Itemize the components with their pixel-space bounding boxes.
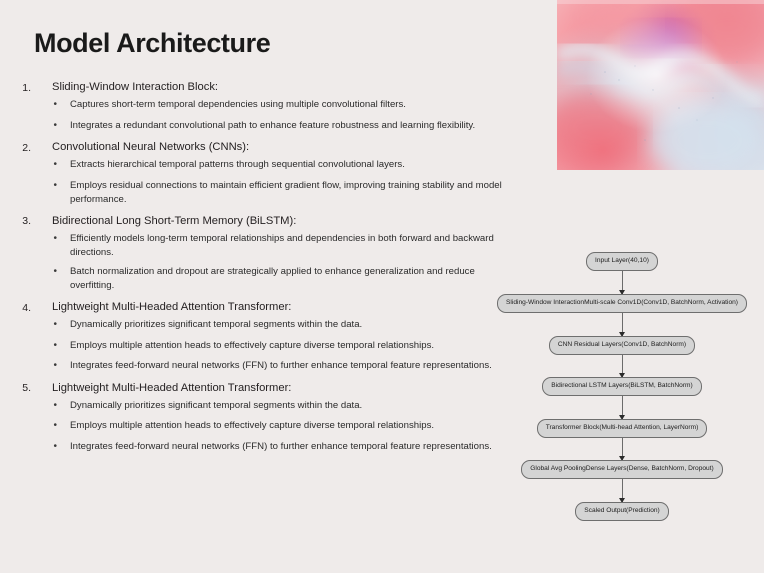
flowchart-node-label: Sliding-Window InteractionMulti-scale Co… [497,294,747,313]
outline-sublist: •Extracts hierarchical temporal patterns… [0,158,545,206]
outline-bullet-text: Integrates feed-forward neural networks … [57,359,492,373]
outline-item: 3.Bidirectional Long Short-Term Memory (… [0,214,545,294]
outline-item-title: Convolutional Neural Networks (CNNs): [31,140,249,155]
bullet-dot-icon: • [0,265,57,280]
flowchart-node[interactable]: Sliding-Window InteractionMulti-scale Co… [480,294,764,313]
outline-item: 1.Sliding-Window Interaction Block:•Capt… [0,80,545,133]
abstract-texture-graphic [557,0,764,170]
outline-item: 4.Lightweight Multi-Headed Attention Tra… [0,300,545,374]
page-title: Model Architecture [34,28,270,59]
outline-item-number: 4. [0,300,31,315]
outline-bullet: •Employs multiple attention heads to eff… [0,419,545,434]
outline-bullet-text: Dynamically prioritizes significant temp… [57,318,362,332]
flowchart-node-label: CNN Residual Layers(Conv1D, BatchNorm) [549,336,695,355]
flowchart-node-label: Input Layer(40,10) [586,252,658,271]
outline-item-title: Bidirectional Long Short-Term Memory (Bi… [31,214,296,229]
outline-item-heading: 5.Lightweight Multi-Headed Attention Tra… [0,381,545,399]
bullet-dot-icon: • [0,119,57,134]
outline-item-heading: 1.Sliding-Window Interaction Block: [0,80,545,98]
flowchart-node[interactable]: Scaled Output(Prediction) [480,502,764,521]
flowchart-node-label: Bidirectional LSTM Layers(BiLSTM, BatchN… [542,377,701,396]
outline-bullet: •Dynamically prioritizes significant tem… [0,399,545,414]
outline-item-heading: 2.Convolutional Neural Networks (CNNs): [0,140,545,158]
bullet-dot-icon: • [0,158,57,173]
outline-bullet: •Integrates feed-forward neural networks… [0,359,545,374]
outline-item-heading: 4.Lightweight Multi-Headed Attention Tra… [0,300,545,318]
flowchart-node[interactable]: Global Avg PoolingDense Layers(Dense, Ba… [480,460,764,479]
outline-bullet-text: Employs multiple attention heads to effe… [57,419,434,433]
outline-bullet-text: Batch normalization and dropout are stra… [57,265,506,293]
flowchart-connector-arrow-icon [622,355,623,377]
outline-sublist: •Efficiently models long-term temporal r… [0,232,545,294]
outline-bullet: •Employs multiple attention heads to eff… [0,339,545,354]
outline-bullet-text: Captures short-term temporal dependencie… [57,98,406,112]
bullet-dot-icon: • [0,440,57,455]
outline-item-number: 5. [0,381,31,396]
flowchart-node[interactable]: Bidirectional LSTM Layers(BiLSTM, BatchN… [480,377,764,396]
outline-item-number: 3. [0,214,31,229]
outline-bullet-text: Employs residual connections to maintain… [57,179,506,207]
bullet-dot-icon: • [0,419,57,434]
outline-item: 2.Convolutional Neural Networks (CNNs):•… [0,140,545,206]
outline-item-title: Lightweight Multi-Headed Attention Trans… [31,300,291,315]
bullet-dot-icon: • [0,179,57,194]
outline-sublist: •Dynamically prioritizes significant tem… [0,399,545,455]
flowchart-node[interactable]: Transformer Block(Multi-head Attention, … [480,419,764,438]
bullet-dot-icon: • [0,359,57,374]
outline-bullet: •Batch normalization and dropout are str… [0,265,545,293]
outline-sublist: •Captures short-term temporal dependenci… [0,98,545,133]
outline-bullet-text: Integrates a redundant convolutional pat… [57,119,475,133]
outline-bullet: •Extracts hierarchical temporal patterns… [0,158,545,173]
flowchart-connector-arrow-icon [622,396,623,419]
outline-bullet-text: Employs multiple attention heads to effe… [57,339,434,353]
flowchart-node[interactable]: Input Layer(40,10) [480,252,764,271]
model-flowchart: Input Layer(40,10)Sliding-Window Interac… [480,246,764,531]
outline-item-title: Sliding-Window Interaction Block: [31,80,218,95]
outline-sublist: •Dynamically prioritizes significant tem… [0,318,545,374]
outline-bullet-text: Dynamically prioritizes significant temp… [57,399,362,413]
bullet-dot-icon: • [0,339,57,354]
outline-bullet: •Efficiently models long-term temporal r… [0,232,545,260]
flowchart-node-label: Transformer Block(Multi-head Attention, … [537,419,708,438]
outline-bullet: •Integrates a redundant convolutional pa… [0,119,545,134]
bullet-dot-icon: • [0,399,57,414]
outline-bullet-text: Extracts hierarchical temporal patterns … [57,158,405,172]
outline-item: 5.Lightweight Multi-Headed Attention Tra… [0,381,545,455]
outline-bullet: •Integrates feed-forward neural networks… [0,440,545,455]
flowchart-node-label: Scaled Output(Prediction) [575,502,669,521]
slide-canvas: Model Architecture [0,0,764,573]
outline-bullet-text: Efficiently models long-term temporal re… [57,232,506,260]
outline-bullet: •Employs residual connections to maintai… [0,179,545,207]
flowchart-connector-arrow-icon [622,271,623,294]
flowchart-connector-arrow-icon [622,313,623,336]
outline-item-number: 2. [0,140,31,155]
bullet-dot-icon: • [0,318,57,333]
outline-bullet-text: Integrates feed-forward neural networks … [57,440,492,454]
outline-list: 1.Sliding-Window Interaction Block:•Capt… [0,80,545,461]
flowchart-node-label: Global Avg PoolingDense Layers(Dense, Ba… [521,460,723,479]
bullet-dot-icon: • [0,232,57,247]
outline-item-title: Lightweight Multi-Headed Attention Trans… [31,381,291,396]
outline-bullet: •Captures short-term temporal dependenci… [0,98,545,113]
bullet-dot-icon: • [0,98,57,113]
flowchart-node[interactable]: CNN Residual Layers(Conv1D, BatchNorm) [480,336,764,355]
outline-item-heading: 3.Bidirectional Long Short-Term Memory (… [0,214,545,232]
flowchart-connector-arrow-icon [622,438,623,460]
hero-image [557,0,764,170]
flowchart-connector-arrow-icon [622,479,623,502]
outline-bullet: •Dynamically prioritizes significant tem… [0,318,545,333]
outline-item-number: 1. [0,80,31,95]
